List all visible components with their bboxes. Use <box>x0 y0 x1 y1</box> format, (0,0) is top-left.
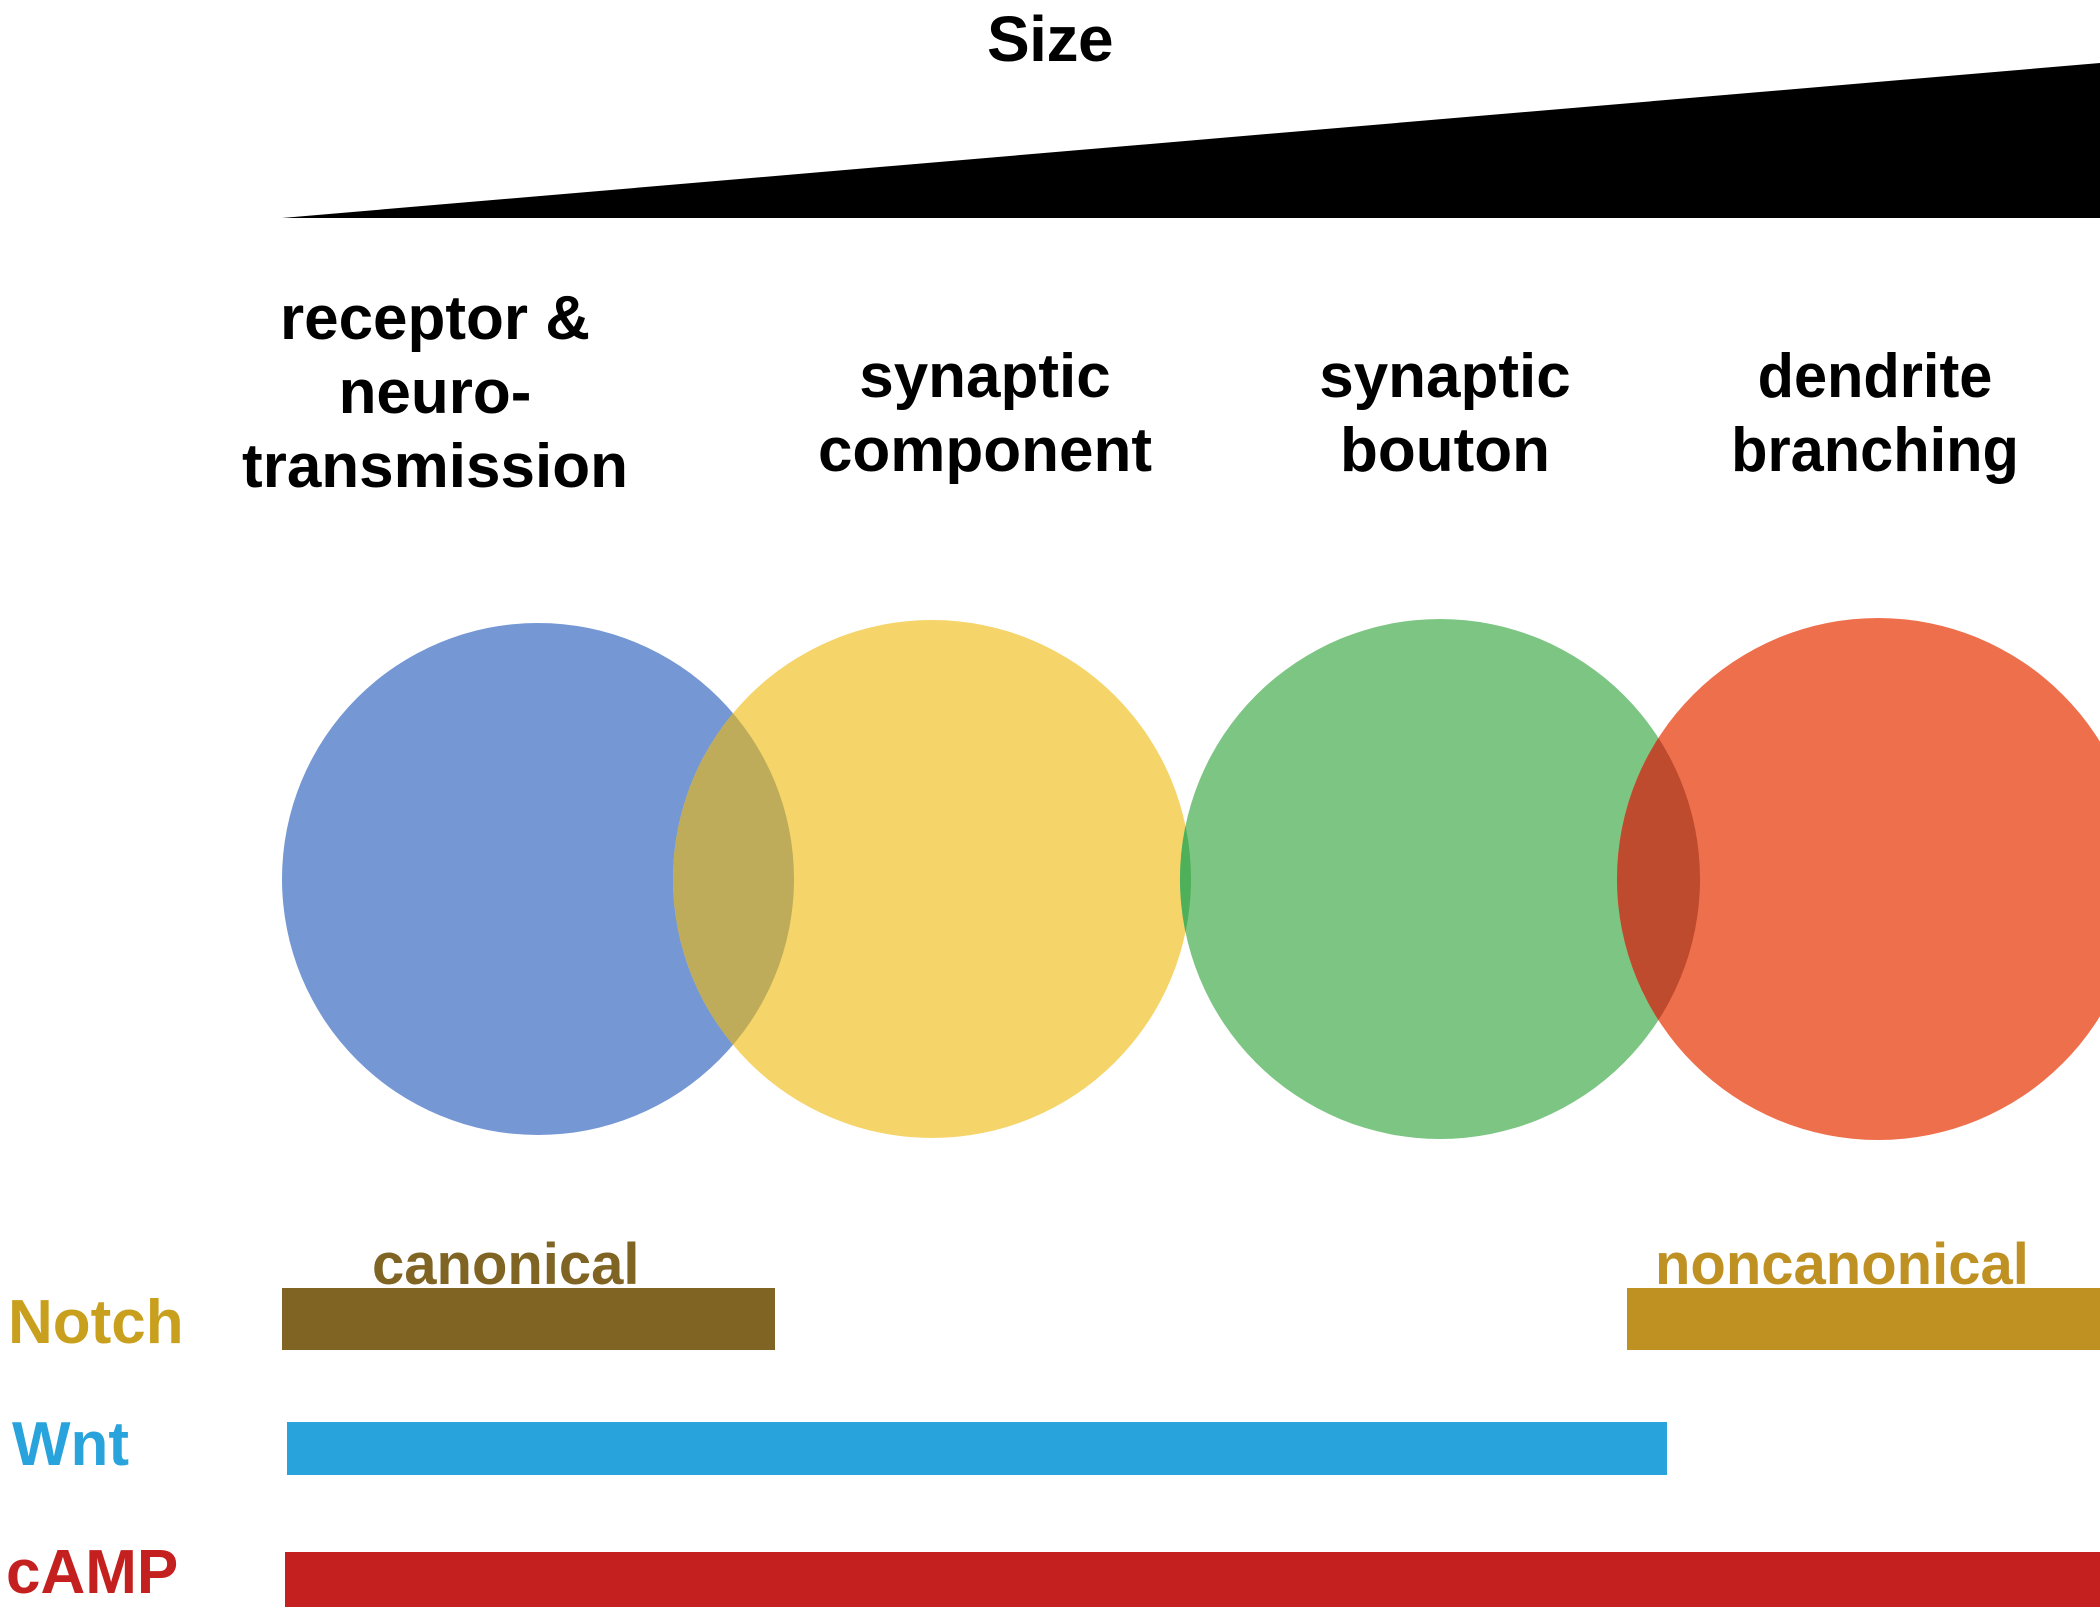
pathway-label-wnt: Wnt <box>12 1414 129 1476</box>
column-header-synaptic-component: synaptic component <box>730 340 1240 488</box>
segment-caption-noncanonical: noncanonical <box>1655 1236 2029 1294</box>
segment-caption-canonical: canonical <box>372 1236 640 1294</box>
pathway-bar-camp <box>285 1552 2100 1607</box>
column-header-dendrite-branching: dendrite branching <box>1659 340 2091 488</box>
size-pathway-diagram: Size receptor & neuro- transmission syna… <box>0 0 2100 1611</box>
pathway-label-camp: cAMP <box>6 1542 178 1604</box>
size-wedge-icon <box>0 60 2100 220</box>
column-header-receptor-neurotransmission: receptor & neuro- transmission <box>200 282 670 504</box>
pathway-bar-notch-noncanonical <box>1627 1288 2100 1350</box>
pathway-bar-notch-canonical <box>282 1288 775 1350</box>
pathway-label-notch: Notch <box>8 1292 184 1354</box>
overlapping-circles-group <box>0 600 2100 1160</box>
pathway-bar-wnt <box>287 1422 1667 1475</box>
column-header-synaptic-bouton: synaptic bouton <box>1230 340 1660 488</box>
